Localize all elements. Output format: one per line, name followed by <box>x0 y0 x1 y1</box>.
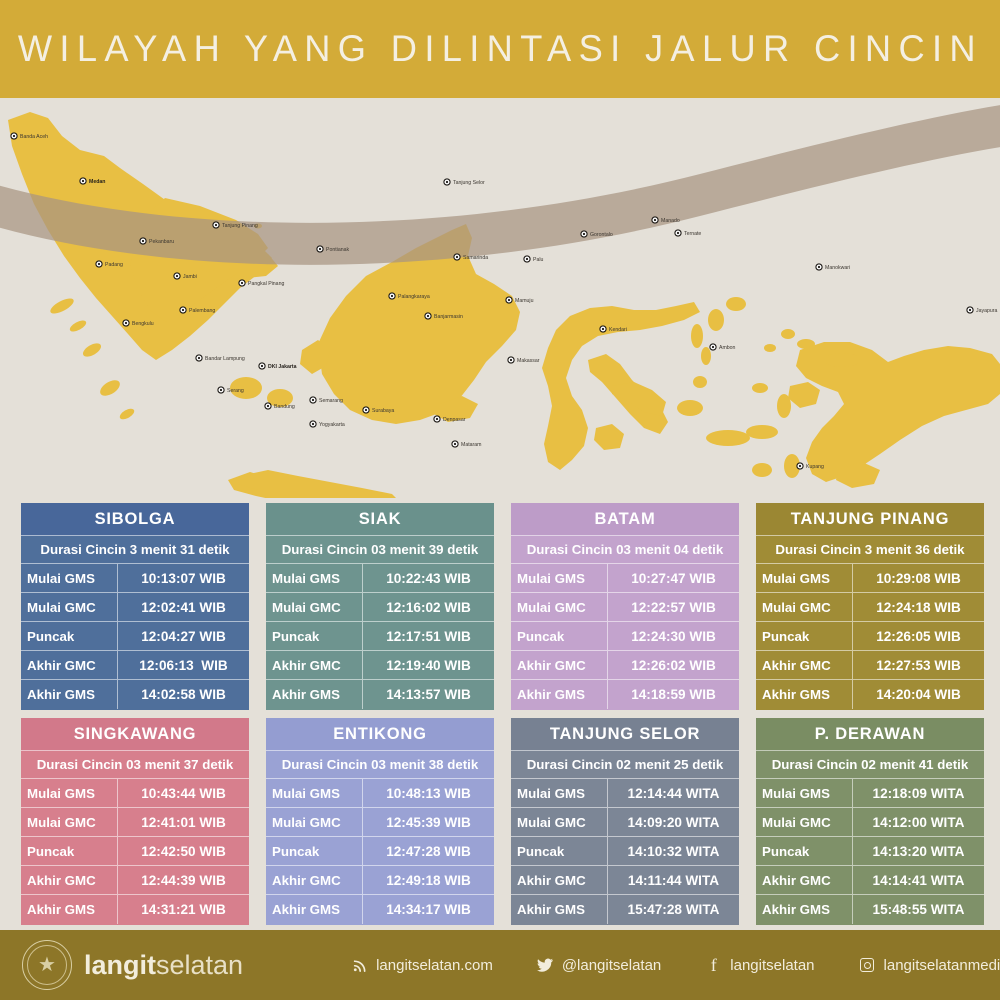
city-label: Tanjung Pinang <box>222 223 258 229</box>
city-label: Jayapura <box>976 308 997 314</box>
city-label: Ternate <box>684 231 701 237</box>
row-value: 14:12:00 WITA <box>853 808 984 836</box>
row-value: 12:04:27 WIB <box>118 622 249 650</box>
row-label: Puncak <box>511 837 608 865</box>
timing-card: P. DERAWANDurasi Cincin 02 menit 41 deti… <box>756 718 984 925</box>
row-label: Puncak <box>21 622 118 650</box>
row-label: Akhir GMS <box>21 895 118 924</box>
city-label: Serang <box>227 388 244 394</box>
city-marker: Palu <box>524 256 544 263</box>
social-link[interactable]: @langitselatan <box>537 957 661 974</box>
row-value: 10:48:13 WIB <box>363 779 494 807</box>
seal-inner-ring <box>27 945 67 985</box>
instagram-camera-shape <box>860 958 874 972</box>
city-dot-icon <box>11 133 17 139</box>
card-title: TANJUNG PINANG <box>756 503 984 536</box>
row-label: Mulai GMS <box>511 564 608 592</box>
row-label: Akhir GMC <box>21 651 118 679</box>
city-timing-cards: SIBOLGADurasi Cincin 3 menit 31 detikMul… <box>0 503 1000 925</box>
row-value: 14:14:41 WITA <box>853 866 984 894</box>
social-label: langitselatan <box>730 957 814 974</box>
row-value: 14:02:58 WIB <box>118 680 249 709</box>
row-label: Akhir GMC <box>756 651 853 679</box>
row-value: 12:06:13 WIB <box>118 651 249 679</box>
row-value: 12:22:57 WIB <box>608 593 739 621</box>
city-marker: Kendari <box>600 326 627 333</box>
twitter-icon[interactable] <box>537 957 554 974</box>
table-row: Akhir GMC12:26:02 WIB <box>511 651 739 680</box>
timing-card: TANJUNG SELORDurasi Cincin 02 menit 25 d… <box>511 718 739 925</box>
row-value: 10:43:44 WIB <box>118 779 249 807</box>
table-row: Mulai GMS12:14:44 WITA <box>511 779 739 808</box>
row-label: Mulai GMS <box>21 564 118 592</box>
city-dot-icon <box>174 273 180 279</box>
city-dot-icon <box>524 256 530 262</box>
city-label: Pontianak <box>326 247 349 253</box>
brand-bold-text: langit <box>84 950 156 980</box>
row-label: Akhir GMS <box>511 680 608 709</box>
row-value: 12:44:39 WIB <box>118 866 249 894</box>
row-label: Akhir GMS <box>511 895 608 924</box>
row-value: 12:49:18 WIB <box>363 866 494 894</box>
card-duration: Durasi Cincin 3 menit 36 detik <box>756 536 984 564</box>
page-title: WILAYAH YANG DILINTASI JALUR CINCIN <box>17 28 982 70</box>
table-row: Mulai GMS12:18:09 WITA <box>756 779 984 808</box>
city-dot-icon <box>140 238 146 244</box>
city-marker: Mamuju <box>506 297 534 304</box>
row-value: 10:27:47 WIB <box>608 564 739 592</box>
city-label: Palangkaraya <box>398 294 430 300</box>
row-label: Akhir GMS <box>21 680 118 709</box>
card-title: BATAM <box>511 503 739 536</box>
card-duration: Durasi Cincin 3 menit 31 detik <box>21 536 249 564</box>
brand-light-text: selatan <box>156 950 243 980</box>
city-dot-icon <box>600 326 606 332</box>
row-label: Mulai GMC <box>266 593 363 621</box>
card-duration: Durasi Cincin 02 menit 25 detik <box>511 751 739 779</box>
row-label: Mulai GMC <box>21 808 118 836</box>
row-value: 14:13:20 WITA <box>853 837 984 865</box>
row-value: 14:20:04 WIB <box>853 680 984 709</box>
city-dot-icon <box>389 293 395 299</box>
table-row: Puncak12:04:27 WIB <box>21 622 249 651</box>
row-value: 14:18:59 WIB <box>608 680 739 709</box>
row-value: 10:13:07 WIB <box>118 564 249 592</box>
city-marker: Yogyakarta <box>310 421 345 428</box>
city-marker: Denpasar <box>434 416 466 423</box>
city-marker: Manado <box>652 217 680 224</box>
table-row: Mulai GMS10:22:43 WIB <box>266 564 494 593</box>
city-marker: Ternate <box>675 230 702 237</box>
city-dot-icon <box>581 231 587 237</box>
card-title: SIAK <box>266 503 494 536</box>
city-label: Surabaya <box>372 408 394 414</box>
card-duration: Durasi Cincin 03 menit 04 detik <box>511 536 739 564</box>
table-row: Puncak12:47:28 WIB <box>266 837 494 866</box>
city-marker: Manokwari <box>816 264 850 271</box>
table-row: Mulai GMC12:16:02 WIB <box>266 593 494 622</box>
city-marker: Semarang <box>310 397 343 404</box>
city-dot-icon <box>508 357 514 363</box>
row-label: Akhir GMC <box>266 866 363 894</box>
card-title: ENTIKONG <box>266 718 494 751</box>
city-label: Manokwari <box>825 265 850 271</box>
city-label: Pekanbaru <box>149 239 174 245</box>
city-marker: Gorontalo <box>581 231 613 238</box>
city-label: Manado <box>661 218 680 224</box>
row-label: Akhir GMC <box>21 866 118 894</box>
city-dot-icon <box>196 355 202 361</box>
social-label: langitselatanmedia <box>884 957 1000 974</box>
city-marker: Surabaya <box>363 407 394 414</box>
row-value: 14:09:20 WITA <box>608 808 739 836</box>
city-label: Semarang <box>319 398 343 404</box>
card-duration: Durasi Cincin 03 menit 37 detik <box>21 751 249 779</box>
city-dot-icon <box>239 280 245 286</box>
city-dot-icon <box>425 313 431 319</box>
city-label: Mataram <box>461 442 481 448</box>
city-marker: Mataram <box>452 441 482 448</box>
row-label: Puncak <box>756 622 853 650</box>
city-marker: Pontianak <box>317 246 350 253</box>
table-row: Akhir GMC12:19:40 WIB <box>266 651 494 680</box>
row-value: 14:34:17 WIB <box>363 895 494 924</box>
table-row: Akhir GMS15:47:28 WITA <box>511 895 739 924</box>
city-label: Bandar Lampung <box>205 356 245 362</box>
table-row: Mulai GMS10:43:44 WIB <box>21 779 249 808</box>
city-marker: Samarinda <box>454 254 488 261</box>
city-dot-icon <box>967 307 973 313</box>
table-row: Akhir GMC12:27:53 WIB <box>756 651 984 680</box>
table-row: Mulai GMC12:22:57 WIB <box>511 593 739 622</box>
table-row: Akhir GMC14:14:41 WITA <box>756 866 984 895</box>
page-footer: ★ langitselatan langitselatan.com@langit… <box>0 930 1000 1000</box>
city-dot-icon <box>259 363 265 369</box>
city-marker: Serang <box>218 387 244 394</box>
row-label: Mulai GMS <box>266 779 363 807</box>
city-label: Pangkal Pinang <box>248 281 284 287</box>
social-link[interactable]: langitselatan.com <box>351 957 493 974</box>
city-label: Mamuju <box>515 298 534 304</box>
row-value: 12:27:53 WIB <box>853 651 984 679</box>
city-label: Makassar <box>517 358 540 364</box>
row-label: Mulai GMC <box>756 808 853 836</box>
city-dot-icon <box>444 179 450 185</box>
row-label: Akhir GMS <box>266 680 363 709</box>
city-dot-icon <box>180 307 186 313</box>
map-region: Banda AcehMedanPekanbaruPadangTanjung Pi… <box>0 98 1000 498</box>
card-title: P. DERAWAN <box>756 718 984 751</box>
city-dot-icon <box>80 178 86 184</box>
row-label: Akhir GMC <box>511 866 608 894</box>
city-dot-icon <box>506 297 512 303</box>
city-dot-icon <box>675 230 681 236</box>
city-dot-icon <box>96 261 102 267</box>
row-value: 14:31:21 WIB <box>118 895 249 924</box>
city-label: Samarinda <box>463 255 488 261</box>
instagram-icon[interactable] <box>859 957 876 974</box>
social-link[interactable]: langitselatanmedia <box>859 957 1000 974</box>
city-marker: Bandung <box>265 403 295 410</box>
row-value: 12:18:09 WITA <box>853 779 984 807</box>
city-label: DKI Jakarta <box>268 364 297 370</box>
row-label: Akhir GMS <box>266 895 363 924</box>
row-label: Akhir GMS <box>756 680 853 709</box>
card-duration: Durasi Cincin 03 menit 39 detik <box>266 536 494 564</box>
city-marker: Makassar <box>508 357 540 364</box>
row-value: 15:47:28 WITA <box>608 895 739 924</box>
city-label: Gorontalo <box>590 232 613 238</box>
city-marker: Bengkulu <box>123 320 154 327</box>
timing-card: SIBOLGADurasi Cincin 3 menit 31 detikMul… <box>21 503 249 710</box>
city-label: Banjarmasin <box>434 314 463 320</box>
table-row: Mulai GMS10:13:07 WIB <box>21 564 249 593</box>
city-label: Yogyakarta <box>319 422 345 428</box>
city-label: Bandung <box>274 404 295 410</box>
table-row: Mulai GMS10:27:47 WIB <box>511 564 739 593</box>
table-row: Mulai GMC14:12:00 WITA <box>756 808 984 837</box>
social-links-group: langitselatan.com@langitselatanflangitse… <box>351 957 1000 974</box>
row-value: 12:26:02 WIB <box>608 651 739 679</box>
city-dot-icon <box>452 441 458 447</box>
table-row: Akhir GMS14:34:17 WIB <box>266 895 494 924</box>
card-duration: Durasi Cincin 03 menit 38 detik <box>266 751 494 779</box>
row-value: 14:11:44 WITA <box>608 866 739 894</box>
city-label: Medan <box>89 179 105 185</box>
row-label: Mulai GMS <box>266 564 363 592</box>
row-label: Mulai GMS <box>756 779 853 807</box>
city-dot-icon <box>434 416 440 422</box>
table-row: Akhir GMC12:44:39 WIB <box>21 866 249 895</box>
row-value: 12:26:05 WIB <box>853 622 984 650</box>
city-label: Tanjung Selor <box>453 180 485 186</box>
row-label: Puncak <box>266 837 363 865</box>
row-label: Akhir GMC <box>756 866 853 894</box>
city-label: Banda Aceh <box>20 134 48 140</box>
table-row: Akhir GMS15:48:55 WITA <box>756 895 984 924</box>
timing-card: SIAKDurasi Cincin 03 menit 39 detikMulai… <box>266 503 494 710</box>
city-dot-icon <box>265 403 271 409</box>
city-dot-icon <box>710 344 716 350</box>
city-label: Bengkulu <box>132 321 154 327</box>
table-row: Mulai GMC12:24:18 WIB <box>756 593 984 622</box>
social-label: langitselatan.com <box>376 957 493 974</box>
page-header: WILAYAH YANG DILINTASI JALUR CINCIN <box>0 0 1000 98</box>
city-marker: Padang <box>96 261 123 268</box>
row-label: Puncak <box>756 837 853 865</box>
row-value: 12:42:50 WIB <box>118 837 249 865</box>
table-row: Akhir GMC12:06:13 WIB <box>21 651 249 680</box>
city-label: Jambi <box>183 274 197 280</box>
table-row: Puncak14:10:32 WITA <box>511 837 739 866</box>
row-label: Mulai GMC <box>511 593 608 621</box>
city-dot-icon <box>816 264 822 270</box>
table-row: Mulai GMS10:48:13 WIB <box>266 779 494 808</box>
city-marker: Ambon <box>710 344 736 351</box>
table-row: Mulai GMC12:02:41 WIB <box>21 593 249 622</box>
row-value: 12:45:39 WIB <box>363 808 494 836</box>
city-label: Kupang <box>806 464 824 470</box>
row-label: Akhir GMC <box>266 651 363 679</box>
row-label: Puncak <box>266 622 363 650</box>
city-marker: Medan <box>80 178 106 185</box>
timing-card: ENTIKONGDurasi Cincin 03 menit 38 detikM… <box>266 718 494 925</box>
city-dot-icon <box>652 217 658 223</box>
row-value: 15:48:55 WITA <box>853 895 984 924</box>
table-row: Mulai GMS10:29:08 WIB <box>756 564 984 593</box>
table-row: Akhir GMS14:18:59 WIB <box>511 680 739 709</box>
table-row: Puncak14:13:20 WITA <box>756 837 984 866</box>
social-label: @langitselatan <box>562 957 661 974</box>
row-value: 12:02:41 WIB <box>118 593 249 621</box>
table-row: Akhir GMS14:20:04 WIB <box>756 680 984 709</box>
city-marker: Jambi <box>174 273 197 280</box>
row-value: 10:22:43 WIB <box>363 564 494 592</box>
card-title: SIBOLGA <box>21 503 249 536</box>
city-label: Palembang <box>189 308 215 314</box>
city-label: Palu <box>533 257 543 263</box>
table-row: Puncak12:42:50 WIB <box>21 837 249 866</box>
card-title: TANJUNG SELOR <box>511 718 739 751</box>
row-value: 10:29:08 WIB <box>853 564 984 592</box>
card-duration: Durasi Cincin 02 menit 41 detik <box>756 751 984 779</box>
table-row: Puncak12:26:05 WIB <box>756 622 984 651</box>
brand-wordmark: langitselatan <box>84 952 243 979</box>
table-row: Mulai GMC12:45:39 WIB <box>266 808 494 837</box>
row-label: Akhir GMS <box>756 895 853 924</box>
card-title: SINGKAWANG <box>21 718 249 751</box>
row-value: 12:24:30 WIB <box>608 622 739 650</box>
table-row: Akhir GMC14:11:44 WITA <box>511 866 739 895</box>
row-label: Puncak <box>511 622 608 650</box>
timing-card: SINGKAWANGDurasi Cincin 03 menit 37 deti… <box>21 718 249 925</box>
rss-icon[interactable] <box>351 957 368 974</box>
row-label: Mulai GMC <box>756 593 853 621</box>
city-dot-icon <box>454 254 460 260</box>
infographic-page: WILAYAH YANG DILINTASI JALUR CINCIN <box>0 0 1000 1000</box>
row-value: 12:19:40 WIB <box>363 651 494 679</box>
city-dot-icon <box>310 397 316 403</box>
row-value: 12:16:02 WIB <box>363 593 494 621</box>
row-label: Puncak <box>21 837 118 865</box>
row-value: 12:41:01 WIB <box>118 808 249 836</box>
row-label: Mulai GMS <box>21 779 118 807</box>
table-row: Puncak12:24:30 WIB <box>511 622 739 651</box>
city-label: Kendari <box>609 327 627 333</box>
timing-card: BATAMDurasi Cincin 03 menit 04 detikMula… <box>511 503 739 710</box>
table-row: Akhir GMS14:31:21 WIB <box>21 895 249 924</box>
city-dot-icon <box>218 387 224 393</box>
table-row: Puncak12:17:51 WIB <box>266 622 494 651</box>
row-value: 12:24:18 WIB <box>853 593 984 621</box>
row-label: Mulai GMC <box>266 808 363 836</box>
city-marker: Pekanbaru <box>140 238 174 245</box>
city-dot-icon <box>363 407 369 413</box>
row-value: 12:17:51 WIB <box>363 622 494 650</box>
table-row: Akhir GMC12:49:18 WIB <box>266 866 494 895</box>
table-row: Mulai GMC12:41:01 WIB <box>21 808 249 837</box>
row-label: Mulai GMC <box>21 593 118 621</box>
row-label: Mulai GMC <box>511 808 608 836</box>
table-row: Akhir GMS14:02:58 WIB <box>21 680 249 709</box>
city-dot-icon <box>797 463 803 469</box>
social-link[interactable]: flangitselatan <box>705 957 814 974</box>
city-label: Ambon <box>719 345 736 351</box>
table-row: Akhir GMS14:13:57 WIB <box>266 680 494 709</box>
timing-card: TANJUNG PINANGDurasi Cincin 3 menit 36 d… <box>756 503 984 710</box>
indonesia-map-svg: Banda AcehMedanPekanbaruPadangTanjung Pi… <box>0 98 1000 498</box>
row-label: Mulai GMS <box>511 779 608 807</box>
row-value: 14:13:57 WIB <box>363 680 494 709</box>
row-label: Akhir GMC <box>511 651 608 679</box>
city-marker: Jayapura <box>967 307 998 314</box>
row-value: 12:47:28 WIB <box>363 837 494 865</box>
row-label: Mulai GMS <box>756 564 853 592</box>
facebook-icon[interactable]: f <box>705 957 722 974</box>
row-value: 12:14:44 WITA <box>608 779 739 807</box>
langitselatan-seal-logo: ★ <box>22 940 72 990</box>
city-dot-icon <box>123 320 129 326</box>
row-value: 14:10:32 WITA <box>608 837 739 865</box>
city-marker: Kupang <box>797 463 824 470</box>
city-dot-icon <box>317 246 323 252</box>
city-dot-icon <box>213 222 219 228</box>
city-dot-icon <box>310 421 316 427</box>
city-label: Padang <box>105 262 123 268</box>
table-row: Mulai GMC14:09:20 WITA <box>511 808 739 837</box>
city-label: Denpasar <box>443 417 466 423</box>
